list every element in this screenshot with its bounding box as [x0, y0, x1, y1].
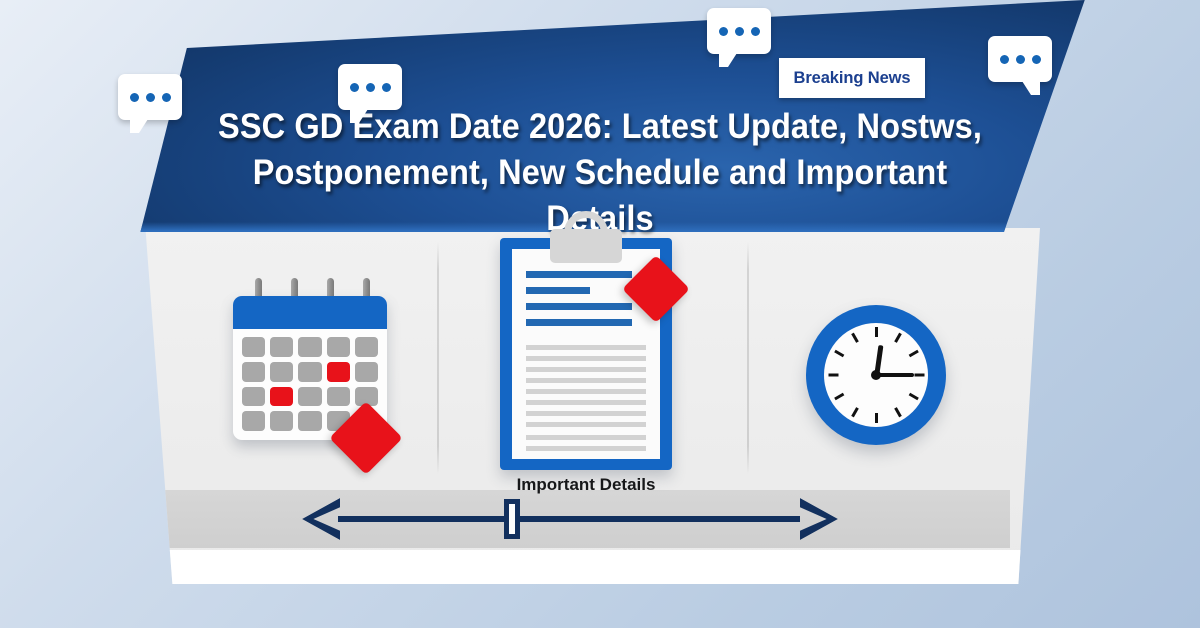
- card-footer-strip: [140, 550, 1040, 584]
- timeline-slider[interactable]: [152, 490, 1010, 548]
- calendar-highlight-cell: [327, 362, 350, 382]
- clipboard-clip: [550, 229, 622, 263]
- timeline-marker-handle[interactable]: [504, 499, 520, 539]
- poster-stage: Important Details SSC GD Exam Date 2026:…: [0, 0, 1200, 628]
- timeline-track: [338, 516, 800, 522]
- arrow-left-icon: [302, 498, 340, 540]
- arrow-right-icon: [800, 498, 838, 540]
- clipboard-caption: Important Details: [500, 475, 672, 495]
- speech-bubble-icon: [707, 8, 771, 54]
- speech-bubble-icon: [118, 74, 182, 120]
- status-badge-label: Breaking News: [794, 69, 911, 88]
- calendar-header: [233, 296, 387, 329]
- clock-center-pin: [871, 370, 881, 380]
- section-divider-right: [747, 242, 749, 474]
- section-divider-left: [437, 242, 439, 474]
- status-badge: Breaking News: [779, 58, 925, 98]
- speech-bubble-icon: [338, 64, 402, 110]
- calendar-highlight-cell: [270, 387, 293, 407]
- speech-bubble-icon: [988, 36, 1052, 82]
- clock-icon: [806, 305, 946, 445]
